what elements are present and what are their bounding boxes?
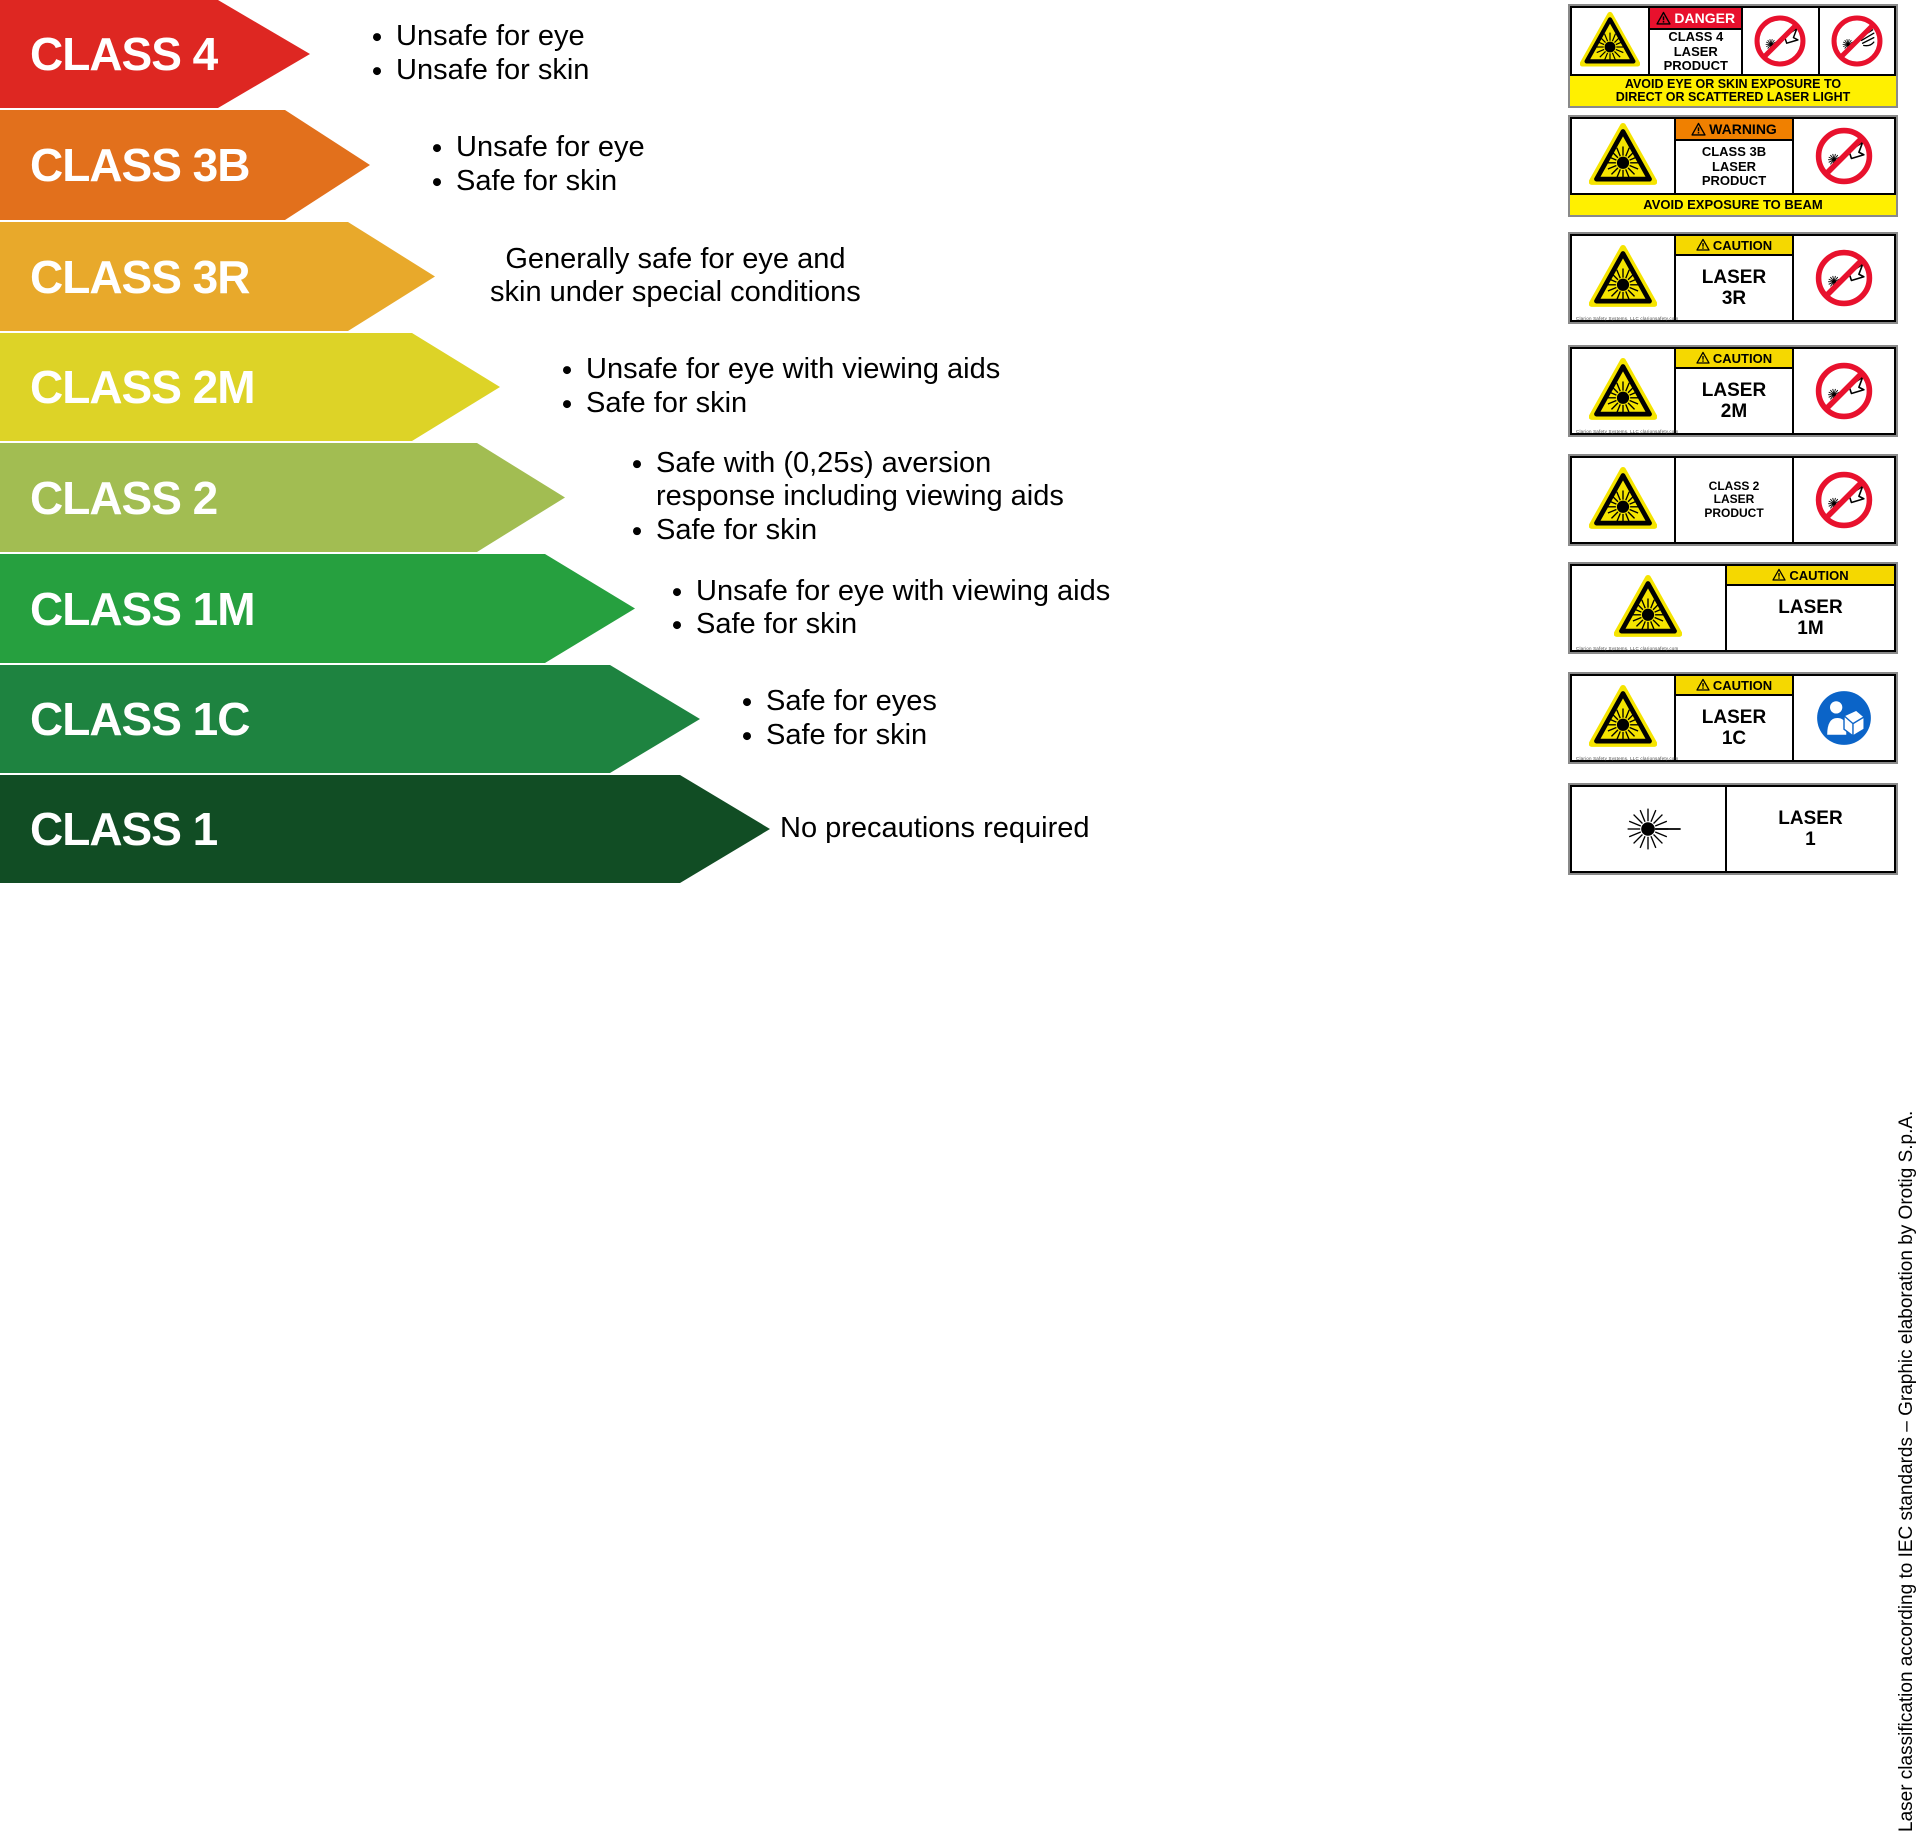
- class-text-block: LASER1: [1727, 787, 1894, 871]
- class-row: CLASS 3BUnsafe for eyeSafe for skin: [0, 110, 1540, 220]
- credit-strip: Laser classification according to IEC st…: [1874, 0, 1920, 1080]
- no-eye-exposure-icon: [1813, 469, 1875, 531]
- label-text-line: CLASS 3B: [1702, 145, 1766, 160]
- label-text-line: 1M: [1797, 618, 1823, 639]
- label-text-line: PRODUCT: [1702, 174, 1766, 189]
- warning-triangle-icon: [1696, 678, 1710, 692]
- laser-symbol-cell: [1572, 236, 1674, 320]
- label-text-line: 1: [1805, 829, 1816, 850]
- laser-classification-chart: CLASS 4Unsafe for eyeUnsafe for skinCLAS…: [0, 0, 1920, 1080]
- banner-line: DIRECT OR SCATTERED LASER LIGHT: [1616, 91, 1851, 104]
- laser-symbol-cell: [1572, 349, 1674, 433]
- class-description: No precautions required: [780, 812, 1090, 846]
- class-description: Safe with (0,25s) aversion response incl…: [630, 447, 1064, 549]
- label-text-line: LASER: [1702, 380, 1766, 401]
- label-text-cell: DANGERCLASS 4LASERPRODUCT: [1648, 8, 1741, 74]
- class-name-label: CLASS 1C: [30, 696, 249, 742]
- plain-description: No precautions required: [780, 812, 1090, 846]
- bullet-item: Unsafe for eye: [396, 20, 589, 54]
- signal-word-header: DANGER: [1650, 8, 1741, 30]
- laser-burst-triangle-icon: [1589, 244, 1657, 312]
- bullet-list: Unsafe for eyeSafe for skin: [430, 131, 645, 199]
- laser-symbol-cell: [1572, 787, 1725, 871]
- class-name-label: CLASS 2: [30, 475, 217, 521]
- laser-warning-label: CAUTIONLASER1MClarion Safety Systems, LL…: [1568, 562, 1898, 654]
- class-description: Unsafe for eye with viewing aidsSafe for…: [560, 353, 1000, 421]
- laser-burst-triangle-icon: [1589, 466, 1657, 534]
- credit-text: Laser classification according to IEC st…: [1896, 1072, 1918, 1832]
- bullet-list: Safe with (0,25s) aversion response incl…: [630, 447, 1064, 549]
- no-eye-exposure-icon: [1813, 360, 1875, 422]
- signal-word-text: CAUTION: [1713, 352, 1772, 365]
- class-row: CLASS 1No precautions required: [0, 775, 1540, 883]
- class-name-label: CLASS 1M: [30, 586, 255, 632]
- label-text-line: 3R: [1722, 288, 1746, 309]
- bullet-list: Unsafe for eye with viewing aidsSafe for…: [670, 575, 1110, 643]
- label-footer: Clarion Safety Systems, LLC clarionsafet…: [1576, 756, 1678, 761]
- class-name-label: CLASS 3B: [30, 142, 249, 188]
- laser-burst-plain-icon: [1614, 795, 1682, 863]
- label-text-cell: WARNINGCLASS 3BLASERPRODUCT: [1674, 119, 1792, 193]
- class-text-block: LASER3R: [1676, 256, 1792, 320]
- bullet-list: Unsafe for eye with viewing aidsSafe for…: [560, 353, 1000, 421]
- label-text-cell: LASER1: [1725, 787, 1894, 871]
- label-text-line: LASER: [1778, 808, 1842, 829]
- laser-warning-label: DANGERCLASS 4LASERPRODUCTAVOID EYE OR SK…: [1568, 4, 1898, 108]
- class-text-block: CLASS 4LASERPRODUCT: [1650, 30, 1741, 74]
- class-description: Unsafe for eye with viewing aidsSafe for…: [670, 575, 1110, 643]
- label-text-line: LASER: [1712, 160, 1756, 175]
- laser-warning-label: CAUTIONLASER1CClarion Safety Systems, LL…: [1568, 672, 1898, 764]
- bullet-item: Unsafe for skin: [396, 54, 589, 88]
- bullet-list: Safe for eyesSafe for skin: [740, 685, 937, 753]
- warning-triangle-icon: [1696, 238, 1710, 252]
- label-footer: Clarion Safety Systems, LLC clarionsafet…: [1576, 316, 1678, 321]
- class-text-block: LASER1C: [1676, 696, 1792, 760]
- laser-symbol-cell: [1572, 8, 1648, 74]
- class-name-label: CLASS 1: [30, 806, 217, 852]
- class-row: CLASS 1CSafe for eyesSafe for skin: [0, 665, 1540, 773]
- laser-symbol-cell: [1572, 676, 1674, 760]
- class-text-block: CLASS 3BLASERPRODUCT: [1676, 141, 1792, 193]
- signal-word-header: CAUTION: [1676, 349, 1792, 369]
- laser-warning-label: CLASS 2LASERPRODUCT: [1568, 454, 1898, 546]
- signal-word-text: CAUTION: [1713, 679, 1772, 692]
- class-description: Unsafe for eyeUnsafe for skin: [370, 20, 589, 88]
- bullet-item: Safe with (0,25s) aversion response incl…: [656, 447, 1064, 515]
- warning-triangle-icon: [1696, 351, 1710, 365]
- bullet-item: Unsafe for eye with viewing aids: [696, 575, 1110, 609]
- class-row: CLASS 3RGenerally safe for eye andskin u…: [0, 222, 1540, 331]
- plain-description: Generally safe for eye andskin under spe…: [490, 243, 861, 311]
- class-name-label: CLASS 4: [30, 31, 217, 77]
- warning-triangle-icon: [1691, 122, 1706, 137]
- label-text-cell: CLASS 2LASERPRODUCT: [1674, 458, 1792, 542]
- signal-word-header: CAUTION: [1676, 236, 1792, 256]
- laser-burst-triangle-icon: [1589, 122, 1657, 190]
- signal-word-text: CAUTION: [1713, 239, 1772, 252]
- label-text-cell: CAUTIONLASER2M: [1674, 349, 1792, 433]
- label-text-line: 1C: [1722, 728, 1746, 749]
- laser-burst-triangle-icon: [1589, 684, 1657, 752]
- signal-word-text: CAUTION: [1789, 569, 1848, 582]
- signal-word-text: DANGER: [1674, 11, 1735, 25]
- bullet-item: Safe for skin: [696, 609, 1110, 643]
- label-text-cell: CAUTIONLASER1M: [1725, 566, 1894, 650]
- laser-symbol-cell: [1572, 458, 1674, 542]
- class-text-block: LASER2M: [1676, 369, 1792, 433]
- banner-line: AVOID EXPOSURE TO BEAM: [1643, 198, 1822, 212]
- laser-warning-label: CAUTIONLASER3RClarion Safety Systems, LL…: [1568, 232, 1898, 324]
- label-footer: Clarion Safety Systems, LLC clarionsafet…: [1576, 429, 1678, 434]
- label-text-line: 2M: [1721, 401, 1747, 422]
- warning-triangle-icon: [1772, 568, 1786, 582]
- label-text-cell: CAUTIONLASER3R: [1674, 236, 1792, 320]
- class-name-label: CLASS 2M: [30, 364, 255, 410]
- label-text-line: PRODUCT: [1704, 507, 1763, 520]
- no-eye-exposure-icon: [1752, 13, 1808, 69]
- class-text-block: CLASS 2LASERPRODUCT: [1676, 458, 1792, 542]
- class-description: Unsafe for eyeSafe for skin: [430, 131, 645, 199]
- bullet-item: Safe for eyes: [766, 685, 937, 719]
- label-text-line: CLASS 4: [1668, 30, 1723, 45]
- laser-burst-triangle-icon: [1580, 11, 1640, 71]
- laser-symbol-cell: [1572, 566, 1725, 650]
- laser-burst-triangle-icon: [1614, 574, 1682, 642]
- class-description: Safe for eyesSafe for skin: [740, 685, 937, 753]
- bullet-item: Safe for skin: [456, 165, 645, 199]
- bullet-item: Safe for skin: [656, 514, 1064, 548]
- class-name-label: CLASS 3R: [30, 254, 249, 300]
- laser-burst-triangle-icon: [1589, 357, 1657, 425]
- label-text-line: LASER: [1702, 267, 1766, 288]
- label-footer: Clarion Safety Systems, LLC clarionsafet…: [1576, 646, 1678, 651]
- laser-warning-label: WARNINGCLASS 3BLASERPRODUCTAVOID EXPOSUR…: [1568, 115, 1898, 217]
- label-text-line: LASER: [1778, 597, 1842, 618]
- read-instructions-icon: [1816, 690, 1872, 746]
- laser-warning-label: LASER1: [1568, 783, 1898, 875]
- label-banner: AVOID EYE OR SKIN EXPOSURE TODIRECT OR S…: [1570, 74, 1896, 106]
- signal-word-header: CAUTION: [1676, 676, 1792, 696]
- no-eye-exposure-icon: [1813, 125, 1875, 187]
- bullet-list: Unsafe for eyeUnsafe for skin: [370, 20, 589, 88]
- class-row: CLASS 1MUnsafe for eye with viewing aids…: [0, 554, 1540, 663]
- laser-symbol-cell: [1572, 119, 1674, 193]
- label-text-line: LASER: [1714, 493, 1755, 506]
- no-eye-exposure-icon: [1813, 247, 1875, 309]
- class-row: CLASS 4Unsafe for eyeUnsafe for skin: [0, 0, 1540, 108]
- label-text-cell: CAUTIONLASER1C: [1674, 676, 1792, 760]
- bullet-item: Unsafe for eye with viewing aids: [586, 353, 1000, 387]
- class-row: CLASS 2MUnsafe for eye with viewing aids…: [0, 333, 1540, 441]
- class-row: CLASS 2Safe with (0,25s) aversion respon…: [0, 443, 1540, 552]
- bullet-item: Unsafe for eye: [456, 131, 645, 165]
- laser-warning-label: CAUTIONLASER2MClarion Safety Systems, LL…: [1568, 345, 1898, 437]
- label-banner: AVOID EXPOSURE TO BEAM: [1570, 193, 1896, 215]
- class-description: Generally safe for eye andskin under spe…: [490, 243, 861, 311]
- bullet-item: Safe for skin: [766, 719, 937, 753]
- signal-word-header: CAUTION: [1727, 566, 1894, 586]
- class-text-block: LASER1M: [1727, 586, 1894, 650]
- label-text-line: LASER: [1702, 707, 1766, 728]
- warning-triangle-icon: [1656, 11, 1671, 26]
- signal-word-text: WARNING: [1709, 122, 1777, 136]
- signal-word-header: WARNING: [1676, 119, 1792, 141]
- label-text-line: LASER: [1674, 45, 1718, 60]
- label-text-line: PRODUCT: [1664, 59, 1728, 74]
- prohibition-cell: [1741, 8, 1817, 74]
- bullet-item: Safe for skin: [586, 387, 1000, 421]
- label-text-line: CLASS 2: [1709, 480, 1760, 493]
